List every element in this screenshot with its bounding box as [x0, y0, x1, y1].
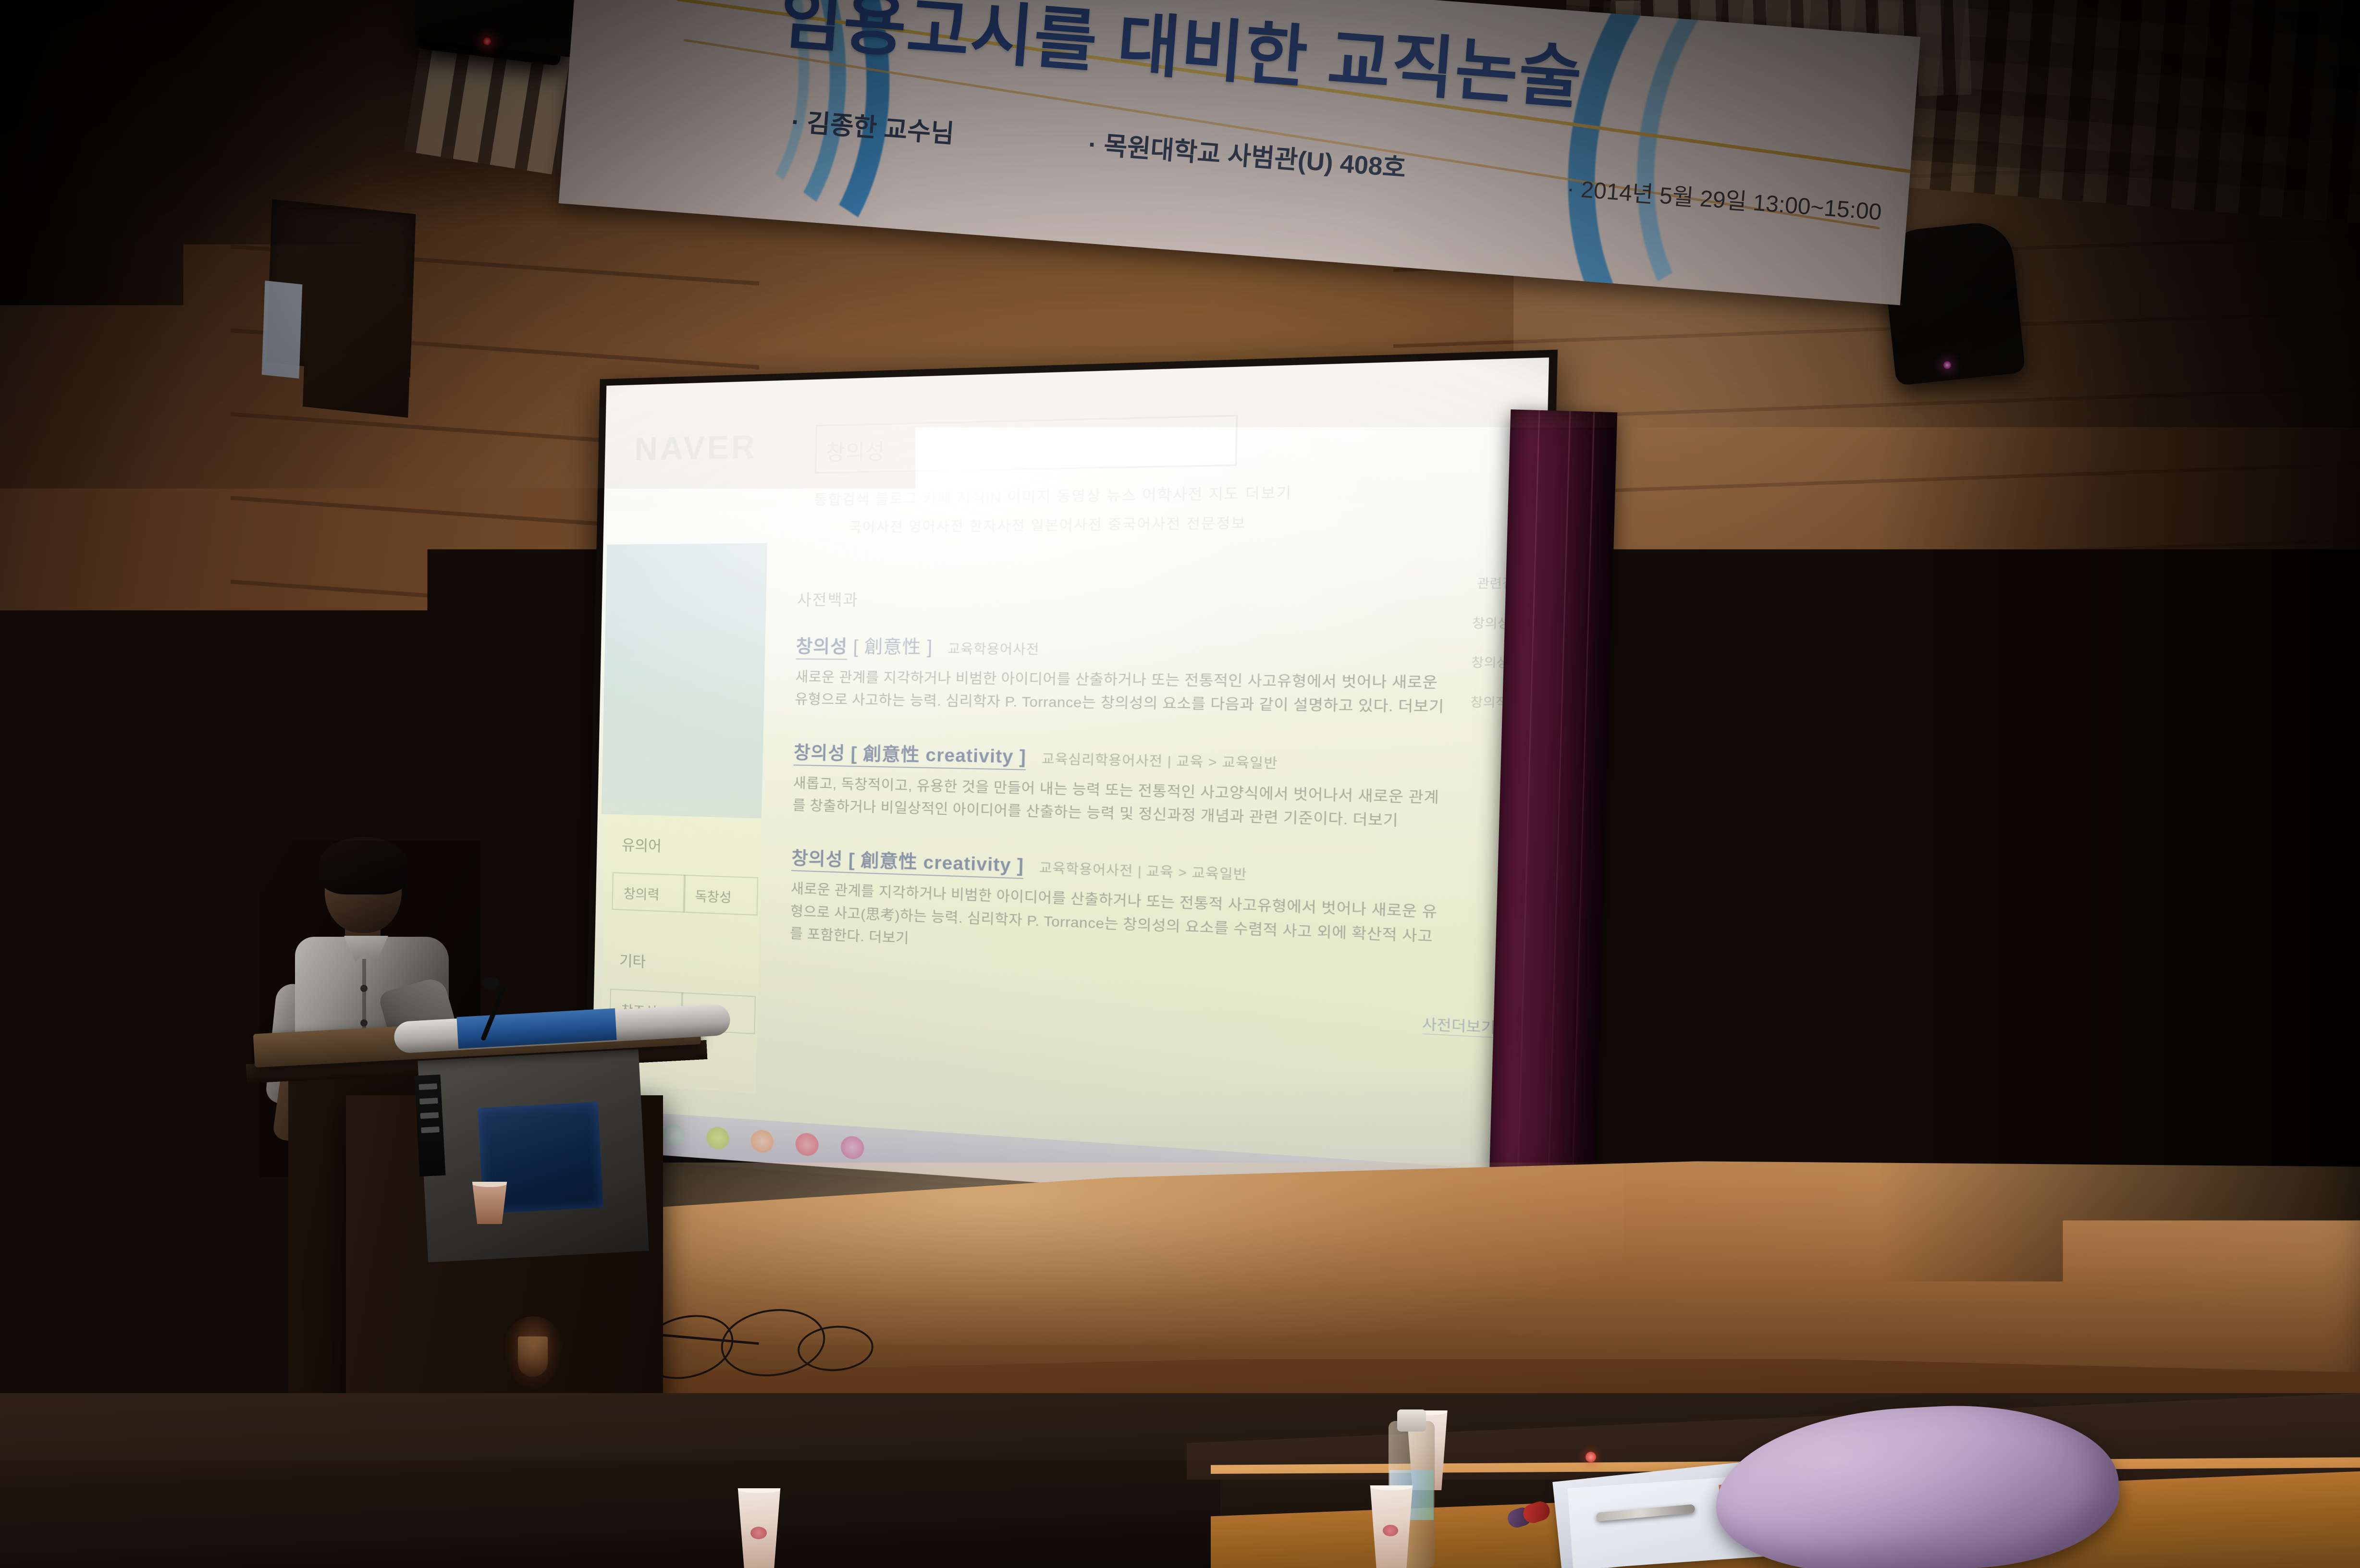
dictionary-entry: 창의성 [ 創意性 creativity ] 교육학용어사전 | 교육 > 교육… — [790, 844, 1448, 973]
entry-headword: 창의성 — [796, 636, 848, 660]
vignette-bottom — [0, 1088, 2360, 1568]
search-input[interactable]: 창의성 — [815, 415, 1238, 474]
lecture-hall-photo: 임용고시를 대비한 교직논술 · 김종한 교수님 · 목원대학교 사범관(U) … — [0, 0, 2360, 1568]
naver-logo: NAVER — [634, 428, 757, 468]
entry-reading: [ 創意性 ] — [853, 637, 933, 657]
stage-curtain — [1489, 409, 1618, 1181]
entry-headword: 창의성 [ 創意性 creativity ] — [794, 742, 1027, 770]
sidebar-cell[interactable]: 독창성 — [683, 875, 759, 916]
nav-links-row-2[interactable]: 국어사전 영어사전 한자사전 일본어사전 중국어사전 전문정보 — [848, 509, 1450, 536]
search-query-text: 창의성 — [825, 435, 885, 466]
sidebar-panel — [602, 543, 767, 819]
entry-body: 새로운 관계를 지각하거나 비범한 아이디어를 산출하거나 또는 전통적 사고유… — [790, 878, 1447, 973]
entry-headword: 창의성 [ 創意性 creativity ] — [791, 848, 1024, 879]
sidebar-cell[interactable]: 창의력 — [612, 872, 686, 913]
entry-source: 교육학용어사전 — [947, 641, 1040, 657]
sidebar-cell-label: 창의력 — [624, 883, 660, 903]
entry-headword-row[interactable]: 창의성 [ 創意性 ] 교육학용어사전 — [796, 632, 1453, 662]
dictionary-entry: 창의성 [ 創意性 ] 교육학용어사전 새로운 관계를 지각하거나 비범한 아이… — [795, 632, 1453, 719]
microphone-icon — [482, 977, 500, 990]
speaker-led-left-icon — [483, 37, 491, 45]
sidebar-label-1: 유의어 — [622, 833, 662, 856]
dictionary-entry: 창의성 [ 創意性 creativity ] 교육심리학용어사전 | 교육 > … — [792, 738, 1450, 834]
entry-body: 새로운 관계를 지각하거나 비범한 아이디어를 산출하거나 또는 전통적인 사고… — [795, 666, 1452, 719]
entry-headword-row[interactable]: 창의성 [ 創意性 creativity ] 교육심리학용어사전 | 교육 > … — [794, 738, 1451, 777]
sidebar-label-2: 기타 — [619, 949, 646, 971]
entry-source: 교육심리학용어사전 | 교육 > 교육일반 — [1042, 751, 1278, 771]
search-results: 사전백과 창의성 [ 創意性 ] 교육학용어사전 새로운 관계를 지각하거나 비… — [789, 586, 1454, 1004]
entry-body: 새롭고, 독창적이고, 유용한 것을 만들어 내는 능력 또는 전통적인 사고양… — [792, 772, 1450, 834]
sidebar-cell-label: 독창성 — [695, 886, 732, 906]
banner-venue: · 목원대학교 사범관(U) 408호 — [1087, 124, 1408, 184]
results-section-label: 사전백과 — [797, 586, 1454, 610]
entry-source: 교육학용어사전 | 교육 > 교육일반 — [1039, 860, 1248, 882]
